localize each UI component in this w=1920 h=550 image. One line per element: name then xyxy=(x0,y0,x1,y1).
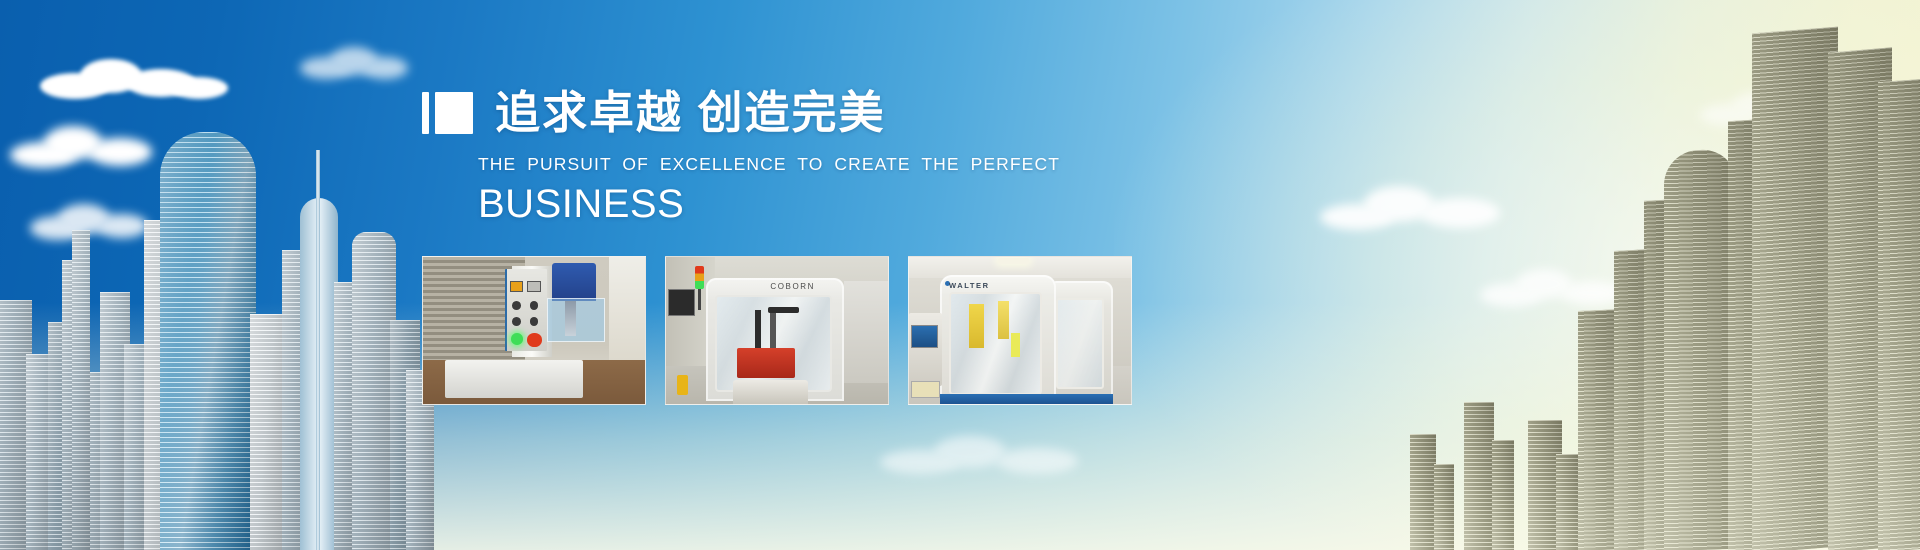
panel-display-amber xyxy=(510,281,523,293)
headline-row: 追求卓越 创造完美 xyxy=(422,90,1182,135)
photo-label-walter: WALTER xyxy=(949,281,990,290)
yellow-container xyxy=(677,375,688,396)
photo-walter-tool-grinder[interactable]: WALTER xyxy=(908,256,1132,405)
stack-light-pole xyxy=(698,289,701,310)
yellow-interior-panel-2 xyxy=(998,301,1009,339)
console-keypad xyxy=(911,381,940,399)
photo-coborn-grinding-machine[interactable]: COBORN xyxy=(665,256,889,405)
photo-cnc-mill-machine[interactable] xyxy=(422,256,646,405)
logo-square-icon xyxy=(435,92,473,134)
spindle xyxy=(565,301,576,336)
machine-base xyxy=(445,360,583,398)
ceiling-lamp-icon xyxy=(998,258,1029,264)
machine-head xyxy=(552,263,596,301)
wordmark-business: BUSINESS xyxy=(478,182,1182,226)
panel-knob-3 xyxy=(512,317,521,326)
left-control-screen xyxy=(668,289,695,315)
right-wall xyxy=(609,257,645,360)
panel-knob-1 xyxy=(512,301,521,310)
secondary-glass-door xyxy=(1056,298,1105,389)
yellow-interior-panel-1 xyxy=(969,304,985,348)
internal-post xyxy=(770,307,776,351)
banner-text-block: 追求卓越 创造完美 THE PURSUIT OF EXCELLENCE TO C… xyxy=(422,90,1182,226)
enclosure-glass-door xyxy=(949,292,1042,395)
yellow-interior-panel-3 xyxy=(1011,333,1020,357)
product-photo-strip: COBORN WALTER xyxy=(422,256,1132,405)
logo-mark xyxy=(422,92,473,134)
machine-drum-base xyxy=(733,380,808,404)
grinding-tool xyxy=(755,310,762,348)
right-equipment xyxy=(844,281,888,384)
panel-display-grey xyxy=(527,281,540,293)
red-workpiece-fixture xyxy=(737,348,795,377)
logo-bar-icon xyxy=(422,92,429,134)
hero-banner: 追求卓越 创造完美 THE PURSUIT OF EXCELLENCE TO C… xyxy=(0,0,1920,550)
stack-light-icon xyxy=(695,266,704,290)
internal-arm xyxy=(768,307,799,313)
subtitle-english: THE PURSUIT OF EXCELLENCE TO CREATE THE … xyxy=(478,154,1182,175)
emergency-stop-button xyxy=(527,333,541,346)
machine-blue-base-stripe xyxy=(940,394,1113,404)
machine-guard xyxy=(547,298,605,342)
headline-chinese: 追求卓越 创造完美 xyxy=(495,90,886,135)
photo-label-coborn: COBORN xyxy=(770,282,815,291)
console-screen xyxy=(911,325,938,349)
green-indicator-light xyxy=(511,333,523,345)
